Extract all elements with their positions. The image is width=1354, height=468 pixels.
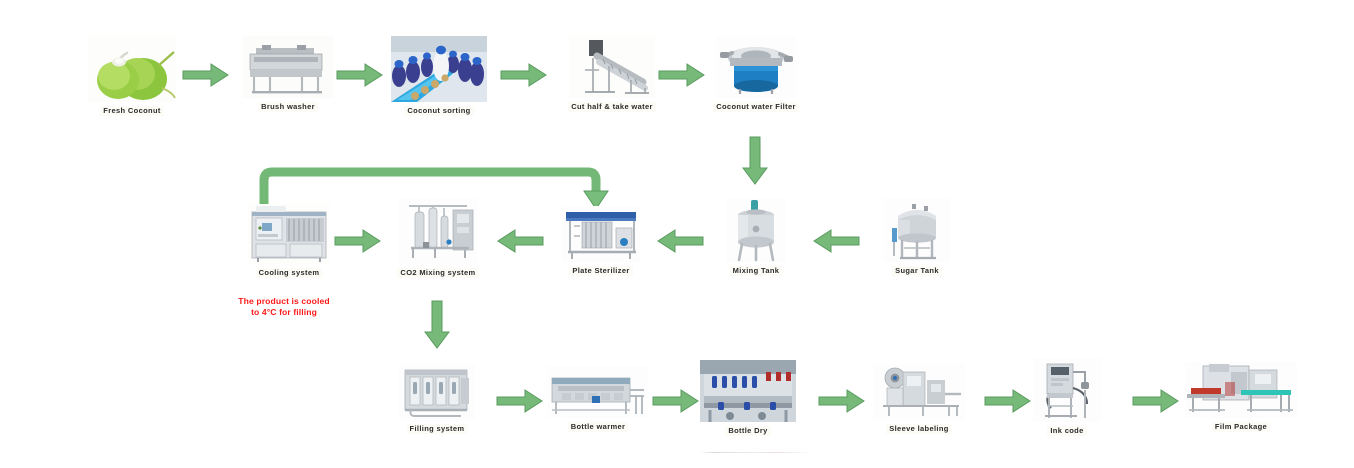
note-line-1: The product is cooled bbox=[238, 296, 329, 306]
node-label: Filling system bbox=[407, 424, 468, 434]
brush-washer-photo bbox=[242, 36, 334, 98]
mixing-tank-photo bbox=[726, 198, 786, 262]
arrow-co2-to-filling bbox=[424, 300, 450, 350]
arrow-coconut-to-washer bbox=[182, 62, 230, 88]
process-node-coconut-water-filter: Coconut water Filter bbox=[700, 36, 812, 112]
process-node-co2-mixing-system: CO2 Mixing system bbox=[386, 198, 490, 278]
node-label: Fresh Coconut bbox=[100, 106, 163, 116]
coconut-sorting-photo bbox=[391, 36, 487, 102]
film-package-photo bbox=[1185, 362, 1297, 418]
cooling-temperature-note: The product is cooled to 4°C for filling bbox=[224, 296, 344, 319]
arrow-cut-to-filter bbox=[658, 62, 706, 88]
node-label: Sleeve labeling bbox=[886, 424, 951, 434]
process-node-cooling-system: Cooling system bbox=[232, 204, 346, 278]
node-label: Sugar Tank bbox=[892, 266, 942, 276]
arrow-washer-to-sorting bbox=[336, 62, 384, 88]
node-label: Ink code bbox=[1047, 426, 1086, 436]
sugar-tank-photo bbox=[884, 198, 950, 262]
arrow-filter-to-mixing-tank bbox=[742, 136, 768, 186]
arrow-ink-to-film bbox=[1132, 388, 1180, 414]
node-label: Film Package bbox=[1212, 422, 1270, 432]
process-node-sleeve-labeling: Sleeve labeling bbox=[866, 364, 972, 434]
node-label: CO2 Mixing system bbox=[397, 268, 478, 278]
node-label: Plate Sterilizer bbox=[569, 266, 632, 276]
arrow-co2-to-cooling bbox=[334, 228, 382, 254]
process-node-sugar-tank: Sugar Tank bbox=[874, 198, 960, 276]
cut-half-take-water-photo bbox=[569, 36, 655, 98]
node-label: Bottle Dry bbox=[725, 426, 770, 436]
process-node-plate-sterilizer: Plate Sterilizer bbox=[552, 206, 650, 276]
arrow-dry-to-sleeve bbox=[818, 388, 866, 414]
process-node-filling-system: Filling system bbox=[388, 364, 486, 434]
process-node-bottle-warmer: Bottle warmer bbox=[546, 366, 650, 432]
bottle-warmer-photo bbox=[548, 366, 648, 418]
process-node-coconut-sorting: Coconut sorting bbox=[386, 36, 492, 116]
sleeve-labeling-photo bbox=[873, 364, 965, 420]
filling-system-photo bbox=[399, 364, 475, 420]
arrow-sugar-to-mixing-tank bbox=[812, 228, 860, 254]
plate-sterilizer-photo bbox=[562, 206, 640, 262]
node-label: Bottle warmer bbox=[568, 422, 629, 432]
process-flow-diagram: Fresh Coconut Brush washer bbox=[0, 0, 1354, 468]
coconut-water-filter-photo bbox=[716, 36, 796, 98]
node-label: Coconut water Filter bbox=[713, 102, 799, 112]
process-node-cut-half-take-water: Cut half & take water bbox=[550, 36, 674, 112]
process-node-brush-washer: Brush washer bbox=[232, 36, 344, 112]
process-node-ink-code: Ink code bbox=[1020, 358, 1114, 436]
node-label: Cooling system bbox=[256, 268, 323, 278]
process-node-mixing-tank: Mixing Tank bbox=[714, 198, 798, 276]
process-node-film-package: Film Package bbox=[1186, 362, 1296, 432]
node-label: Mixing Tank bbox=[730, 266, 783, 276]
process-node-bottle-dry: Bottle Dry bbox=[700, 360, 796, 436]
arrow-mixing-tank-to-sterilizer bbox=[656, 228, 704, 254]
ink-code-photo bbox=[1033, 358, 1101, 422]
note-line-2: to 4°C for filling bbox=[251, 307, 317, 317]
arrow-filling-to-warmer bbox=[496, 388, 544, 414]
process-node-fresh-coconut: Fresh Coconut bbox=[78, 36, 186, 116]
co2-mixing-system-photo bbox=[399, 198, 477, 264]
arrow-sterilizer-to-co2 bbox=[496, 228, 544, 254]
node-label: Brush washer bbox=[258, 102, 318, 112]
arrow-warmer-to-dry bbox=[652, 388, 700, 414]
bottle-dry-photo bbox=[700, 360, 796, 422]
arrow-sorting-to-cut bbox=[500, 62, 548, 88]
watermark-artifact bbox=[700, 452, 810, 453]
cooling-system-photo bbox=[248, 204, 330, 264]
node-label: Cut half & take water bbox=[568, 102, 656, 112]
node-label: Coconut sorting bbox=[404, 106, 473, 116]
fresh-coconut-photo bbox=[88, 36, 176, 102]
